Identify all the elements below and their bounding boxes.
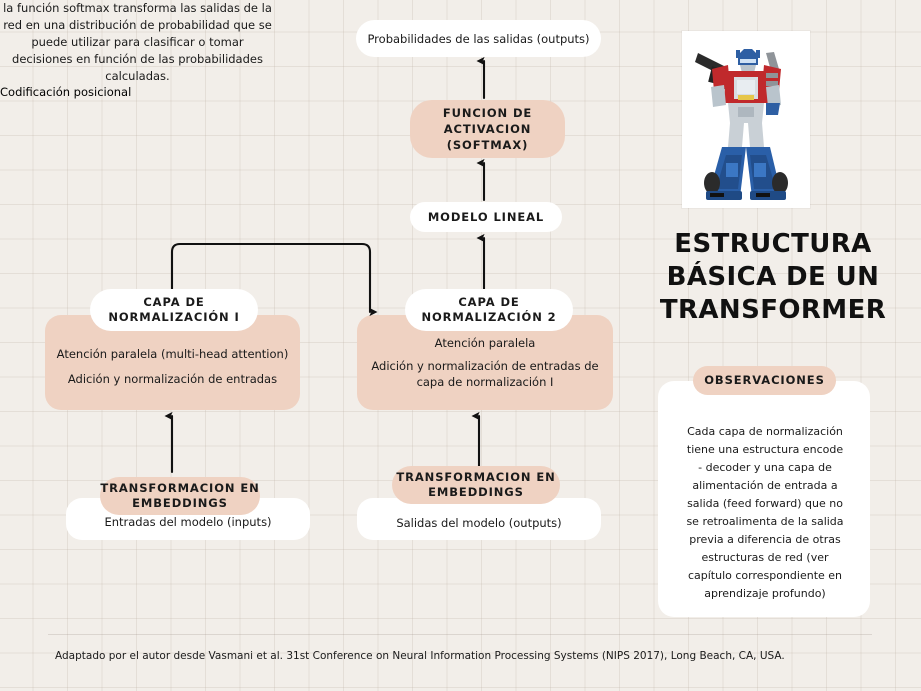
page-title-line: ESTRUCTURA	[650, 228, 896, 261]
panel-norm1-line: Atención paralela (multi-head attention)	[57, 346, 289, 362]
panel-norm1-line: Adición y normalización de entradas	[57, 371, 289, 387]
label-normalization-layer-1[interactable]: CAPA DE NORMALIZACIÓN I	[90, 289, 258, 331]
panel-norm2-line: Adición y normalización de entradas de	[371, 358, 598, 374]
observations-line: salida (feed forward) que no	[672, 495, 858, 513]
label-embeddings-inputs-title: TRANSFORMACION EN EMBEDDINGS	[100, 481, 259, 511]
label-norm2-title: CAPA DE NORMALIZACIÓN 2	[421, 295, 556, 325]
optimus-prime-icon	[682, 31, 810, 208]
label-normalization-layer-2[interactable]: CAPA DE NORMALIZACIÓN 2	[405, 289, 573, 331]
panel-model-outputs-label: Salidas del modelo (outputs)	[396, 515, 561, 531]
observations-line: - decoder y una capa de	[672, 459, 858, 477]
label-embeddings-outputs[interactable]: TRANSFORMACION EN EMBEDDINGS	[392, 466, 560, 504]
label-observations-header[interactable]: OBSERVACIONES	[693, 366, 836, 395]
node-activation-softmax[interactable]: FUNCION DE ACTIVACION (SOFTMAX)	[410, 100, 565, 158]
node-activation-line: FUNCION DE	[443, 105, 532, 121]
observations-line: previa a diferencia de otras	[672, 531, 858, 549]
label-norm1-line: NORMALIZACIÓN I	[108, 310, 239, 325]
label-positional-encoding: Codificación posicional	[0, 85, 140, 99]
observations-line: tiene una estructura encode	[672, 441, 858, 459]
node-linear-model[interactable]: MODELO LINEAL	[410, 202, 562, 232]
page-title-line: BÁSICA DE UN	[650, 261, 896, 294]
label-observations-text: OBSERVACIONES	[704, 373, 825, 388]
label-embeddings-inputs[interactable]: TRANSFORMACION EN EMBEDDINGS	[100, 477, 260, 515]
panel-model-inputs-label: Entradas del modelo (inputs)	[104, 514, 271, 530]
label-norm2-line: CAPA DE	[421, 295, 556, 310]
node-activation-line: ACTIVACION	[443, 121, 532, 137]
footer-credit-text: Adaptado por el autor desde Vasmani et a…	[55, 650, 785, 662]
label-norm1-line: CAPA DE	[108, 295, 239, 310]
panel-norm1-body: Atención paralela (multi-head attention)…	[57, 337, 289, 396]
page-title-line: TRANSFORMER	[650, 294, 896, 327]
observations-line: aprendizaje profundo)	[672, 585, 858, 603]
observations-body: Cada capa de normalización tiene una est…	[672, 423, 858, 603]
footer-credit: Adaptado por el autor desde Vasmani et a…	[55, 650, 855, 662]
node-activation-line: (SOFTMAX)	[443, 137, 532, 153]
label-embeddings-inputs-line: TRANSFORMACION EN	[100, 481, 259, 496]
label-embeddings-outputs-line: TRANSFORMACION EN	[396, 470, 555, 485]
panel-norm2-body: Atención paralela Adición y normalizació…	[371, 328, 598, 397]
observations-line: se retroalimenta de la salida	[672, 513, 858, 531]
page-title: ESTRUCTURA BÁSICA DE UN TRANSFORMER	[650, 228, 896, 327]
panel-norm2-line: capa de normalización I	[371, 374, 598, 390]
node-output-probabilities[interactable]: Probabilidades de las salidas (outputs)	[356, 20, 601, 57]
label-norm2-line: NORMALIZACIÓN 2	[421, 310, 556, 325]
panel-norm2-line: Atención paralela	[371, 335, 598, 351]
label-embeddings-outputs-title: TRANSFORMACION EN EMBEDDINGS	[396, 470, 555, 500]
label-positional-encoding-text: Codificación posicional	[0, 85, 131, 99]
observations-line: estructuras de red (ver	[672, 549, 858, 567]
observations-line: alimentación de entrada a	[672, 477, 858, 495]
node-activation-title: FUNCION DE ACTIVACION (SOFTMAX)	[443, 105, 532, 153]
label-embeddings-outputs-line: EMBEDDINGS	[396, 485, 555, 500]
note-line: la función softmax transforma las salida…	[3, 1, 240, 15]
note-softmax-explanation: la función softmax transforma las salida…	[0, 0, 275, 85]
panel-model-outputs[interactable]: Salidas del modelo (outputs)	[357, 498, 601, 540]
observations-line: Cada capa de normalización	[672, 423, 858, 441]
footer-divider	[48, 634, 872, 635]
transformer-figure-photo	[682, 31, 810, 208]
label-embeddings-inputs-line: EMBEDDINGS	[100, 496, 259, 511]
node-linear-model-label: MODELO LINEAL	[428, 210, 544, 225]
observations-line: capítulo correspondiente en	[672, 567, 858, 585]
label-norm1-title: CAPA DE NORMALIZACIÓN I	[108, 295, 239, 325]
node-output-probabilities-label: Probabilidades de las salidas (outputs)	[367, 32, 589, 46]
diagram-canvas: Probabilidades de las salidas (outputs) …	[0, 0, 921, 691]
